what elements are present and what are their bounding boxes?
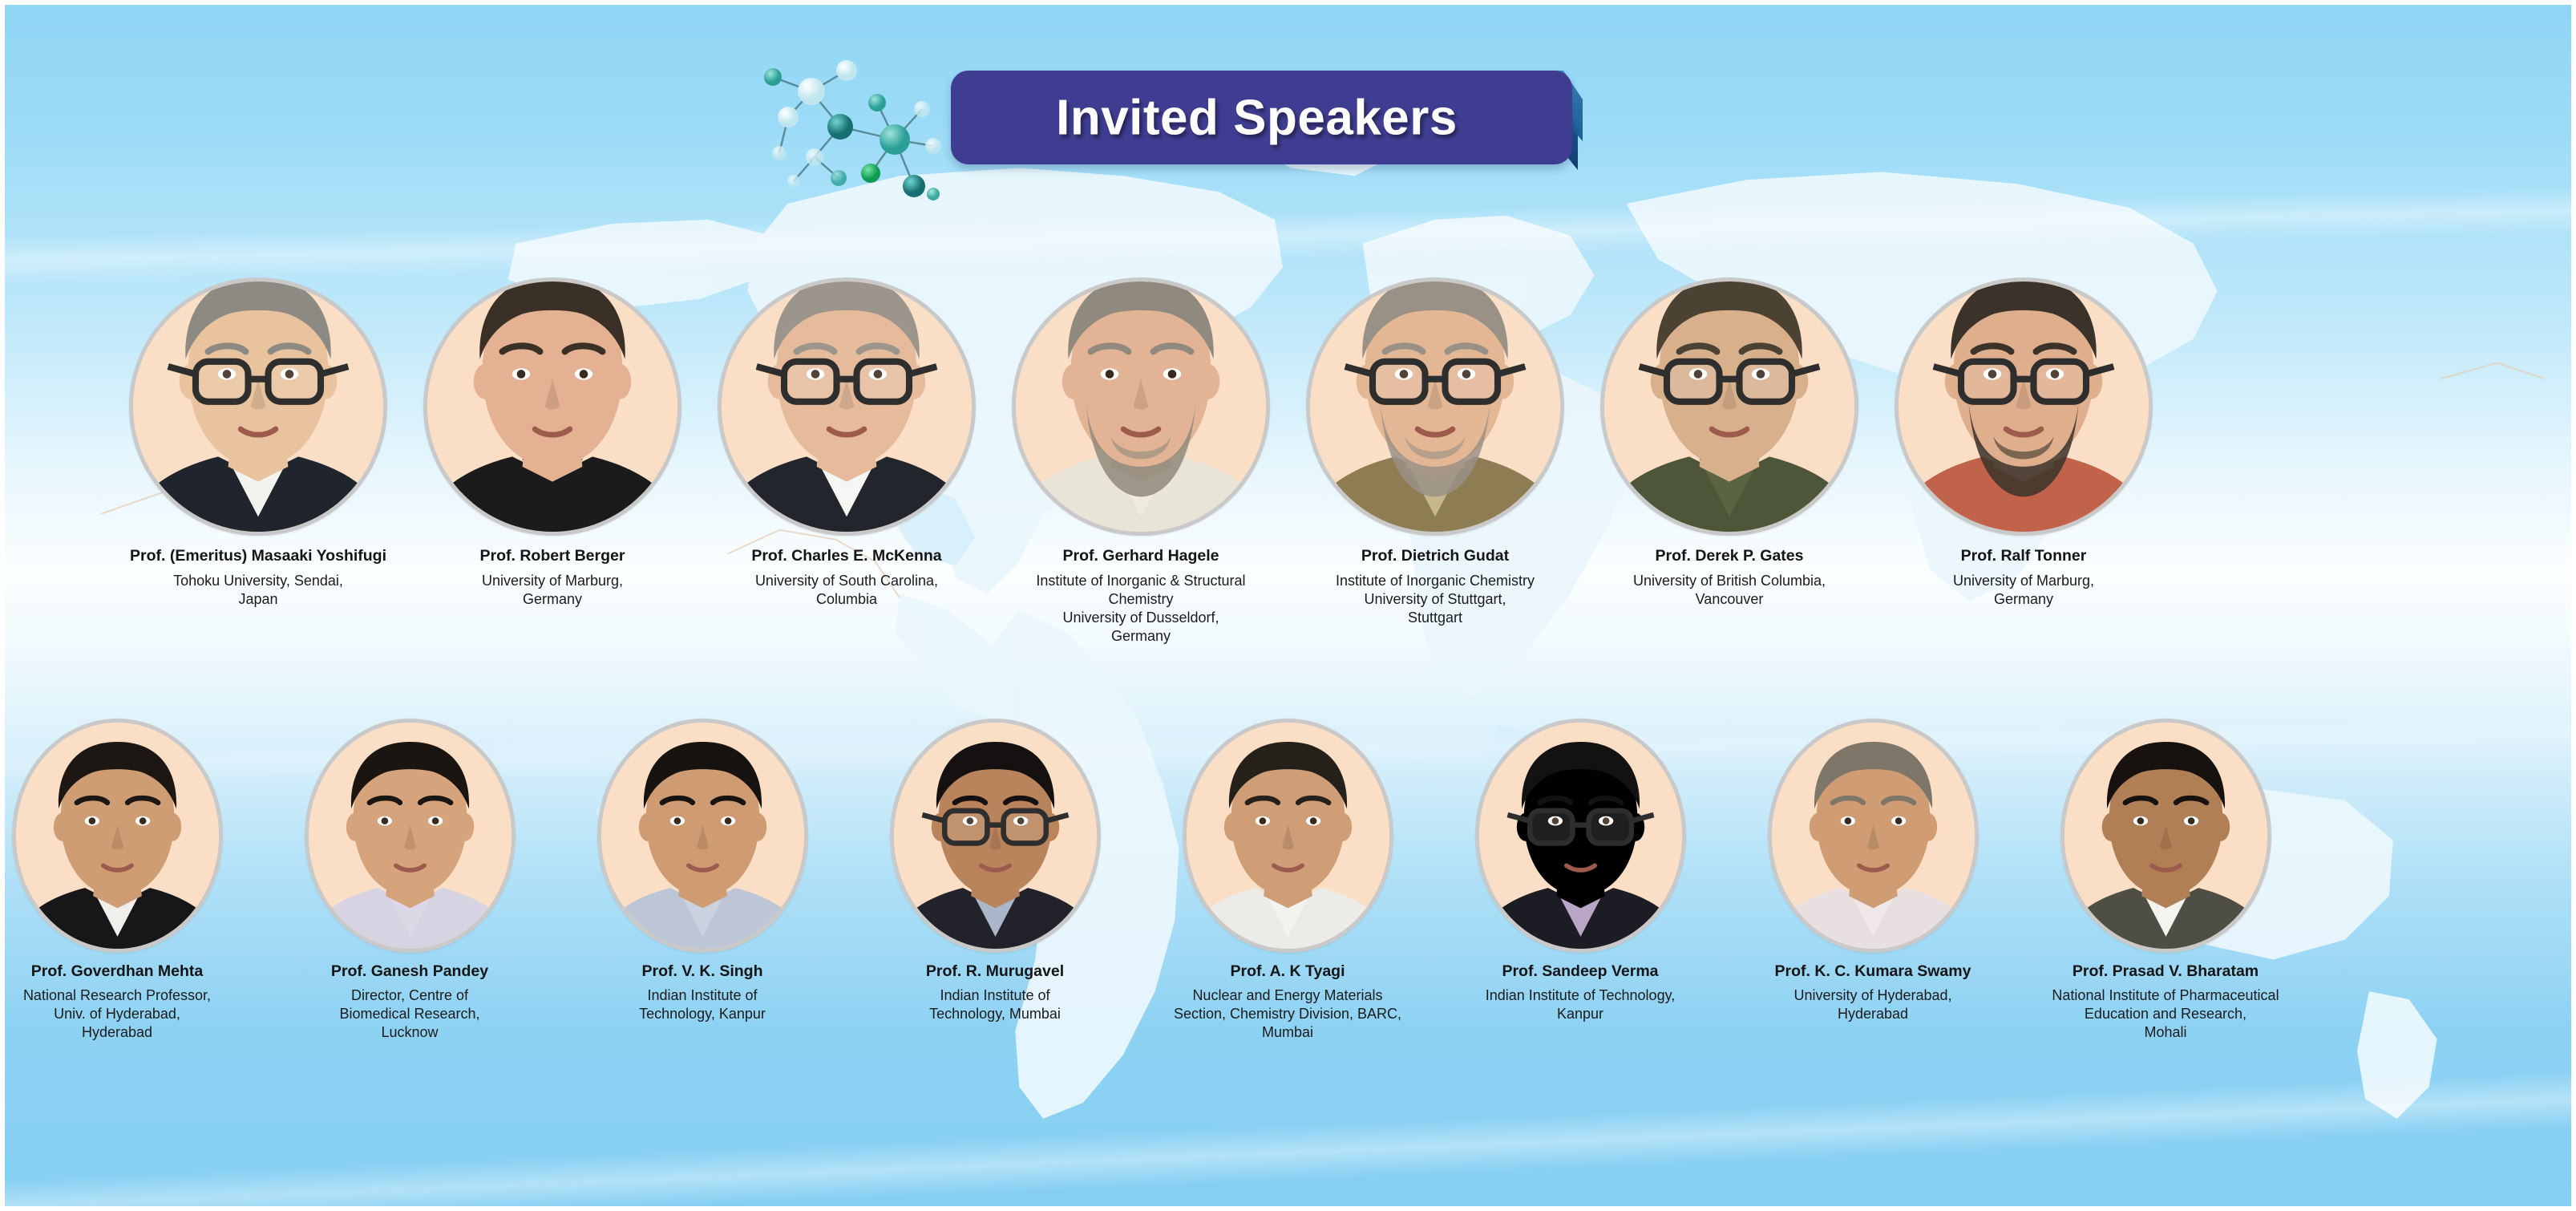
speaker-affiliation: Indian Institute of Technology, Kanpur — [560, 986, 846, 1023]
speaker-card[interactable]: Prof. Charles E. McKennaUniversity of So… — [703, 277, 991, 609]
speaker-affiliation: Tohoku University, Sendai, Japan — [115, 572, 402, 609]
speaker-card[interactable]: Prof. Goverdhan MehtaNational Research P… — [0, 719, 261, 1042]
speaker-card[interactable]: Prof. V. K. SinghIndian Institute of Tec… — [560, 719, 846, 1023]
portrait-ak-tyagi — [1183, 719, 1393, 953]
portrait-sandeep-verma — [1475, 719, 1686, 953]
speaker-name: Prof. Ralf Tonner — [1880, 547, 2168, 565]
portrait-ralf-tonner — [1895, 277, 2153, 536]
speaker-card[interactable]: Prof. Prasad V. BharatamNational Institu… — [2023, 719, 2309, 1042]
background-sheen-bottom — [0, 1050, 2576, 1211]
portrait-dietrich-gudat — [1306, 277, 1564, 536]
speaker-affiliation: Indian Institute of Technology, Mumbai — [852, 986, 1138, 1023]
portrait-r-murugavel — [890, 719, 1101, 953]
speaker-name: Prof. Gerhard Hagele — [997, 547, 1285, 565]
portrait-vk-singh — [597, 719, 808, 953]
speaker-card[interactable]: Prof. K. C. Kumara SwamyUniversity of Hy… — [1730, 719, 2016, 1023]
speaker-affiliation: University of South Carolina, Columbia — [703, 572, 991, 609]
speaker-affiliation: National Institute of Pharmaceutical Edu… — [2023, 986, 2309, 1042]
speaker-card[interactable]: Prof. Ralf TonnerUniversity of Marburg, … — [1880, 277, 2168, 609]
speaker-name: Prof. Robert Berger — [409, 547, 697, 565]
title-banner-plate: Invited Speakers — [951, 71, 1572, 164]
speaker-name: Prof. A. K Tyagi — [1145, 962, 1431, 981]
portrait-kc-kumara-swamy — [1768, 719, 1979, 953]
portrait-ganesh-pandey — [305, 719, 516, 953]
speaker-card[interactable]: Prof. Ganesh PandeyDirector, Centre of B… — [267, 719, 553, 1042]
speaker-name: Prof. Sandeep Verma — [1438, 962, 1724, 981]
speaker-card[interactable]: Prof. Robert BergerUniversity of Marburg… — [409, 277, 697, 609]
title-banner: Invited Speakers — [951, 71, 1572, 164]
portrait-gerhard-hagele — [1012, 277, 1270, 536]
portrait-derek-gates — [1600, 277, 1858, 536]
speaker-name: Prof. V. K. Singh — [560, 962, 846, 981]
speaker-name: Prof. (Emeritus) Masaaki Yoshifugi — [115, 547, 402, 565]
speaker-affiliation: Institute of Inorganic Chemistry Univers… — [1292, 572, 1579, 627]
ball-and-stick-molecule-icon — [744, 29, 952, 217]
speaker-name: Prof. Derek P. Gates — [1586, 547, 1874, 565]
speaker-affiliation: University of Marburg, Germany — [1880, 572, 2168, 609]
speaker-name: Prof. Charles E. McKenna — [703, 547, 991, 565]
speaker-name: Prof. R. Murugavel — [852, 962, 1138, 981]
portrait-robert-berger — [423, 277, 681, 536]
speaker-card[interactable]: Prof. R. MurugavelIndian Institute of Te… — [852, 719, 1138, 1023]
speaker-card[interactable]: Prof. Gerhard HageleInstitute of Inorgan… — [997, 277, 1285, 646]
speaker-card[interactable]: Prof. Sandeep VermaIndian Institute of T… — [1438, 719, 1724, 1023]
speaker-affiliation: University of British Columbia, Vancouve… — [1586, 572, 1874, 609]
speaker-affiliation: Indian Institute of Technology, Kanpur — [1438, 986, 1724, 1023]
background-sheen-top — [0, 177, 2576, 290]
speaker-affiliation: University of Hyderabad, Hyderabad — [1730, 986, 2016, 1023]
page-title: Invited Speakers — [951, 89, 1572, 146]
portrait-goverdhan-mehta — [12, 719, 223, 953]
speaker-card[interactable]: Prof. Derek P. GatesUniversity of Britis… — [1586, 277, 1874, 609]
speaker-name: Prof. Goverdhan Mehta — [0, 962, 261, 981]
speaker-affiliation: Institute of Inorganic & Structural Chem… — [997, 572, 1285, 646]
speaker-affiliation: Director, Centre of Biomedical Research,… — [267, 986, 553, 1042]
portrait-prasad-bharatam — [2060, 719, 2271, 953]
portrait-charles-mckenna — [718, 277, 976, 536]
portrait-masaaki-yoshifugi — [129, 277, 387, 536]
speaker-name: Prof. Dietrich Gudat — [1292, 547, 1579, 565]
speaker-affiliation: University of Marburg, Germany — [409, 572, 697, 609]
speaker-card[interactable]: Prof. (Emeritus) Masaaki YoshifugiTohoku… — [115, 277, 402, 609]
speaker-affiliation: Nuclear and Energy Materials Section, Ch… — [1145, 986, 1431, 1042]
speaker-name: Prof. Ganesh Pandey — [267, 962, 553, 981]
invited-speakers-poster: Invited Speakers — [0, 0, 2576, 1211]
speaker-name: Prof. Prasad V. Bharatam — [2023, 962, 2309, 981]
speaker-card[interactable]: Prof. A. K TyagiNuclear and Energy Mater… — [1145, 719, 1431, 1042]
speaker-card[interactable]: Prof. Dietrich GudatInstitute of Inorgan… — [1292, 277, 1579, 627]
speaker-name: Prof. K. C. Kumara Swamy — [1730, 962, 2016, 981]
speaker-affiliation: National Research Professor, Univ. of Hy… — [0, 986, 261, 1042]
